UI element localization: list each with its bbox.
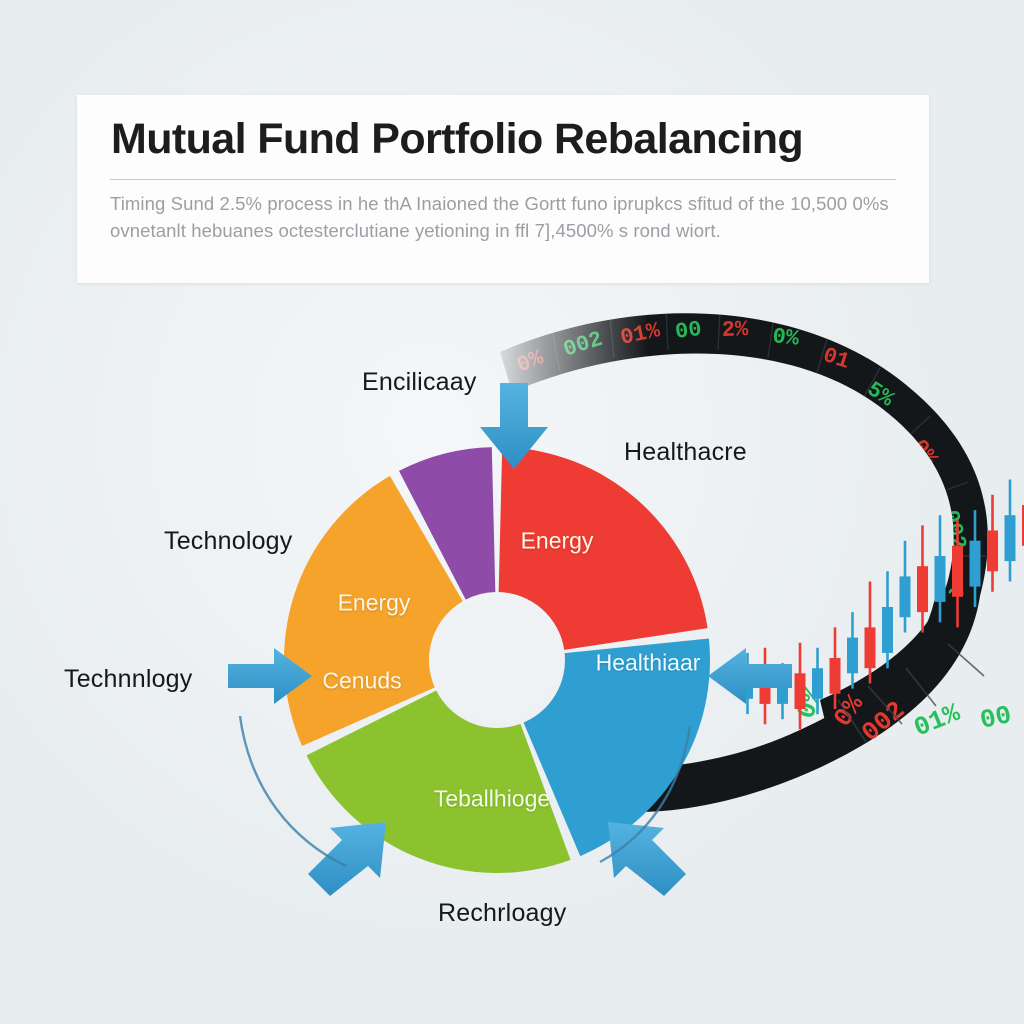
slice-label-bonds: Cenuds [322, 668, 401, 695]
page-title: Mutual Fund Portfolio Rebalancing [111, 115, 803, 164]
arrow-up-right-icon [308, 822, 386, 896]
slice-label-technology: Energy [338, 590, 411, 617]
slice-label-rebalancing: Teballhioge [434, 786, 550, 813]
title-divider [110, 179, 896, 180]
infographic-canvas: 0% 002 01% 00 2% 0% 01 5% 0% 002 01% [0, 0, 1024, 1024]
arrow-right-icon [228, 648, 312, 704]
callout-label-technology-upper: Technology [164, 527, 292, 556]
callout-label-technology-left: Technnlogy [64, 665, 192, 694]
callout-label-endowment: Encilicaay [362, 368, 477, 397]
slice-label-healthcare: Healthiaar [596, 650, 701, 677]
arrow-up-left-icon [608, 822, 686, 896]
callout-label-rebalancing: Rechrloagy [438, 899, 566, 928]
callout-label-healthcare: Healthacre [624, 438, 747, 467]
arrow-down-icon [480, 383, 548, 469]
slice-label-energy: Energy [521, 528, 594, 555]
page-subtitle: Timing Sund 2.5% process in he thA Inaio… [110, 190, 906, 244]
arrow-left-icon [708, 648, 792, 704]
title-card: Mutual Fund Portfolio Rebalancing Timing… [77, 95, 929, 283]
